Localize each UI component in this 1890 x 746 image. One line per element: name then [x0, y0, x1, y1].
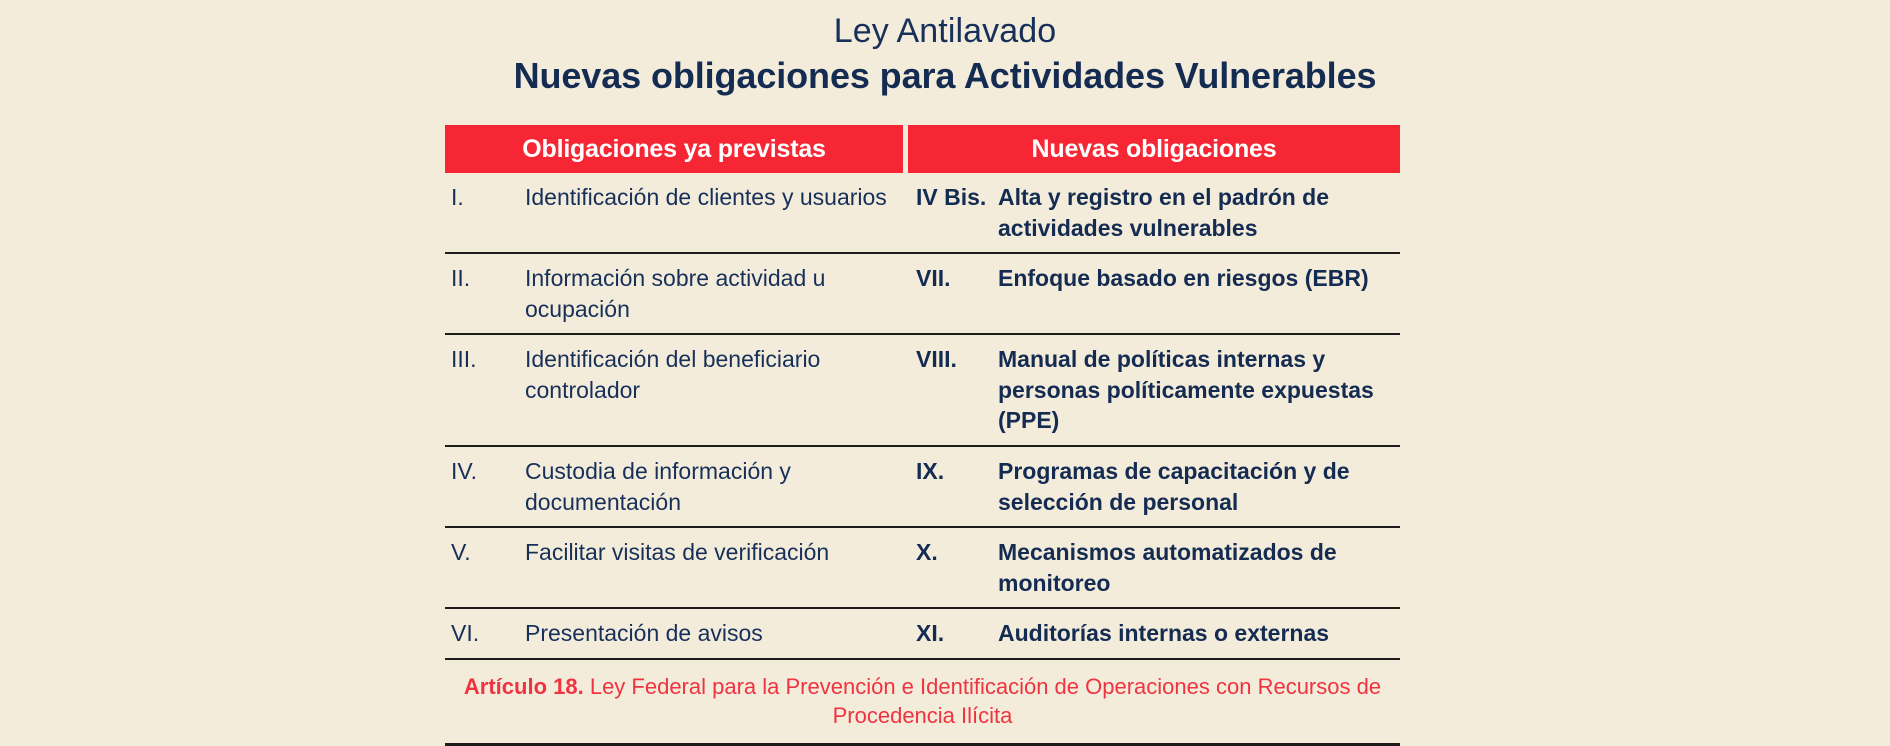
row-text-existing: Información sobre actividad u ocupación [525, 263, 908, 324]
row-number-existing: II. [445, 263, 525, 324]
cell-existing: III. Identificación del beneficiario con… [445, 344, 908, 436]
row-number-existing: I. [445, 182, 525, 243]
table-header-row: Obligaciones ya previstas Nuevas obligac… [445, 125, 1400, 173]
row-number-new: VIII. [908, 344, 998, 436]
cell-new: IX. Programas de capacitación y de selec… [908, 456, 1400, 517]
footnote-text: Ley Federal para la Prevención e Identif… [584, 674, 1381, 728]
cell-existing: II. Información sobre actividad u ocupac… [445, 263, 908, 324]
row-number-new: VII. [908, 263, 998, 324]
cell-existing: I. Identificación de clientes y usuarios [445, 182, 908, 243]
row-number-existing: VI. [445, 618, 525, 649]
cell-existing: VI. Presentación de avisos [445, 618, 908, 649]
row-text-new: Mecanismos automatizados de monitoreo [998, 537, 1400, 598]
cell-new: XI. Auditorías internas o externas [908, 618, 1400, 649]
row-number-new: IX. [908, 456, 998, 517]
cell-new: IV Bis. Alta y registro en el padrón de … [908, 182, 1400, 243]
row-text-new: Auditorías internas o externas [998, 618, 1400, 649]
page-title: Ley Antilavado [0, 12, 1890, 50]
row-number-new: XI. [908, 618, 998, 649]
row-number-existing: III. [445, 344, 525, 436]
row-text-existing: Presentación de avisos [525, 618, 908, 649]
table-body: I. Identificación de clientes y usuarios… [445, 173, 1400, 660]
cell-existing: V. Facilitar visitas de verificación [445, 537, 908, 598]
page-subtitle: Nuevas obligaciones para Actividades Vul… [0, 56, 1890, 96]
slide-canvas: Ley Antilavado Nuevas obligaciones para … [0, 0, 1890, 732]
row-number-new: X. [908, 537, 998, 598]
obligations-table: Obligaciones ya previstas Nuevas obligac… [445, 125, 1400, 746]
row-number-existing: IV. [445, 456, 525, 517]
row-text-existing: Identificación de clientes y usuarios [525, 182, 908, 243]
row-text-new: Programas de capacitación y de selección… [998, 456, 1400, 517]
row-number-new: IV Bis. [908, 182, 998, 243]
row-text-existing: Custodia de información y documentación [525, 456, 908, 517]
table-row: IV. Custodia de información y documentac… [445, 447, 1400, 528]
row-text-new: Manual de políticas internas y personas … [998, 344, 1400, 436]
table-footnote: Artículo 18. Ley Federal para la Prevenc… [445, 660, 1400, 746]
row-text-new: Enfoque basado en riesgos (EBR) [998, 263, 1400, 324]
title-block: Ley Antilavado Nuevas obligaciones para … [0, 12, 1890, 96]
table-row: VI. Presentación de avisos XI. Auditoría… [445, 609, 1400, 660]
row-number-existing: V. [445, 537, 525, 598]
table-row: I. Identificación de clientes y usuarios… [445, 173, 1400, 254]
table-row: II. Información sobre actividad u ocupac… [445, 254, 1400, 335]
row-text-existing: Facilitar visitas de verificación [525, 537, 908, 598]
column-header-existing: Obligaciones ya previstas [445, 125, 903, 173]
cell-new: VIII. Manual de políticas internas y per… [908, 344, 1400, 436]
footnote-article-label: Artículo 18. [464, 674, 584, 699]
cell-new: VII. Enfoque basado en riesgos (EBR) [908, 263, 1400, 324]
row-text-existing: Identificación del beneficiario controla… [525, 344, 908, 436]
column-header-new: Nuevas obligaciones [908, 125, 1400, 173]
cell-existing: IV. Custodia de información y documentac… [445, 456, 908, 517]
table-row: III. Identificación del beneficiario con… [445, 335, 1400, 447]
cell-new: X. Mecanismos automatizados de monitoreo [908, 537, 1400, 598]
row-text-new: Alta y registro en el padrón de activida… [998, 182, 1400, 243]
table-row: V. Facilitar visitas de verificación X. … [445, 528, 1400, 609]
